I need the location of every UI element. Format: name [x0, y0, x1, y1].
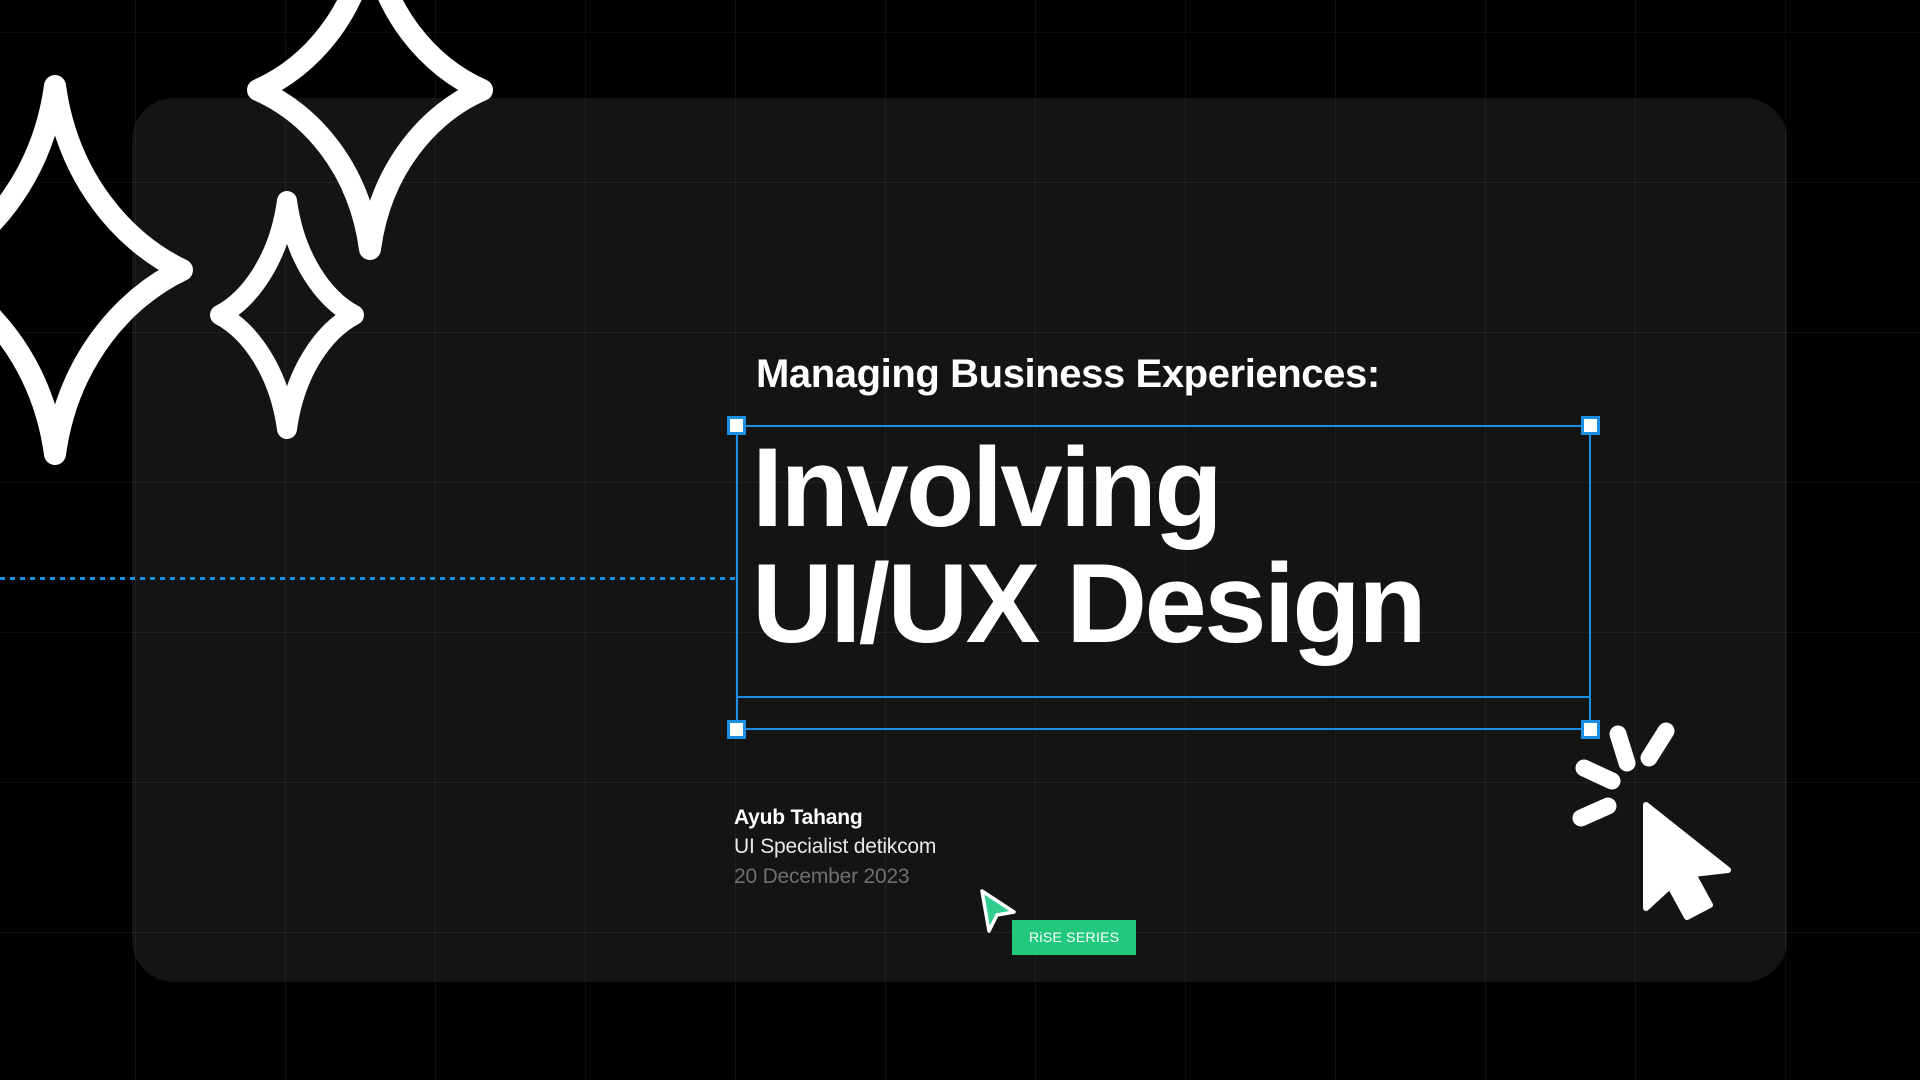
presenter-name: Ayub Tahang [734, 804, 936, 832]
slide-eyebrow: Managing Business Experiences: [756, 352, 1380, 397]
page-title: Involving UI/UX Design [752, 430, 1612, 663]
headline-line-1: Involving [752, 430, 1612, 546]
presenter-date: 20 December 2023 [734, 862, 936, 892]
alignment-guide [0, 577, 740, 580]
presenter-role: UI Specialist detikcom [734, 832, 936, 862]
sparkle-icon [212, 195, 362, 435]
cursor-arrow-icon [978, 888, 1018, 934]
headline-line-2: UI/UX Design [752, 546, 1612, 662]
status-badge[interactable]: RiSE SERIES [1012, 920, 1136, 955]
slide-canvas: Managing Business Experiences: Involving… [0, 0, 1920, 1080]
sparkle-icon [0, 80, 190, 460]
presenter-meta: Ayub Tahang UI Specialist detikcom 20 De… [734, 804, 936, 892]
cursor-arrow-icon [1640, 800, 1750, 920]
